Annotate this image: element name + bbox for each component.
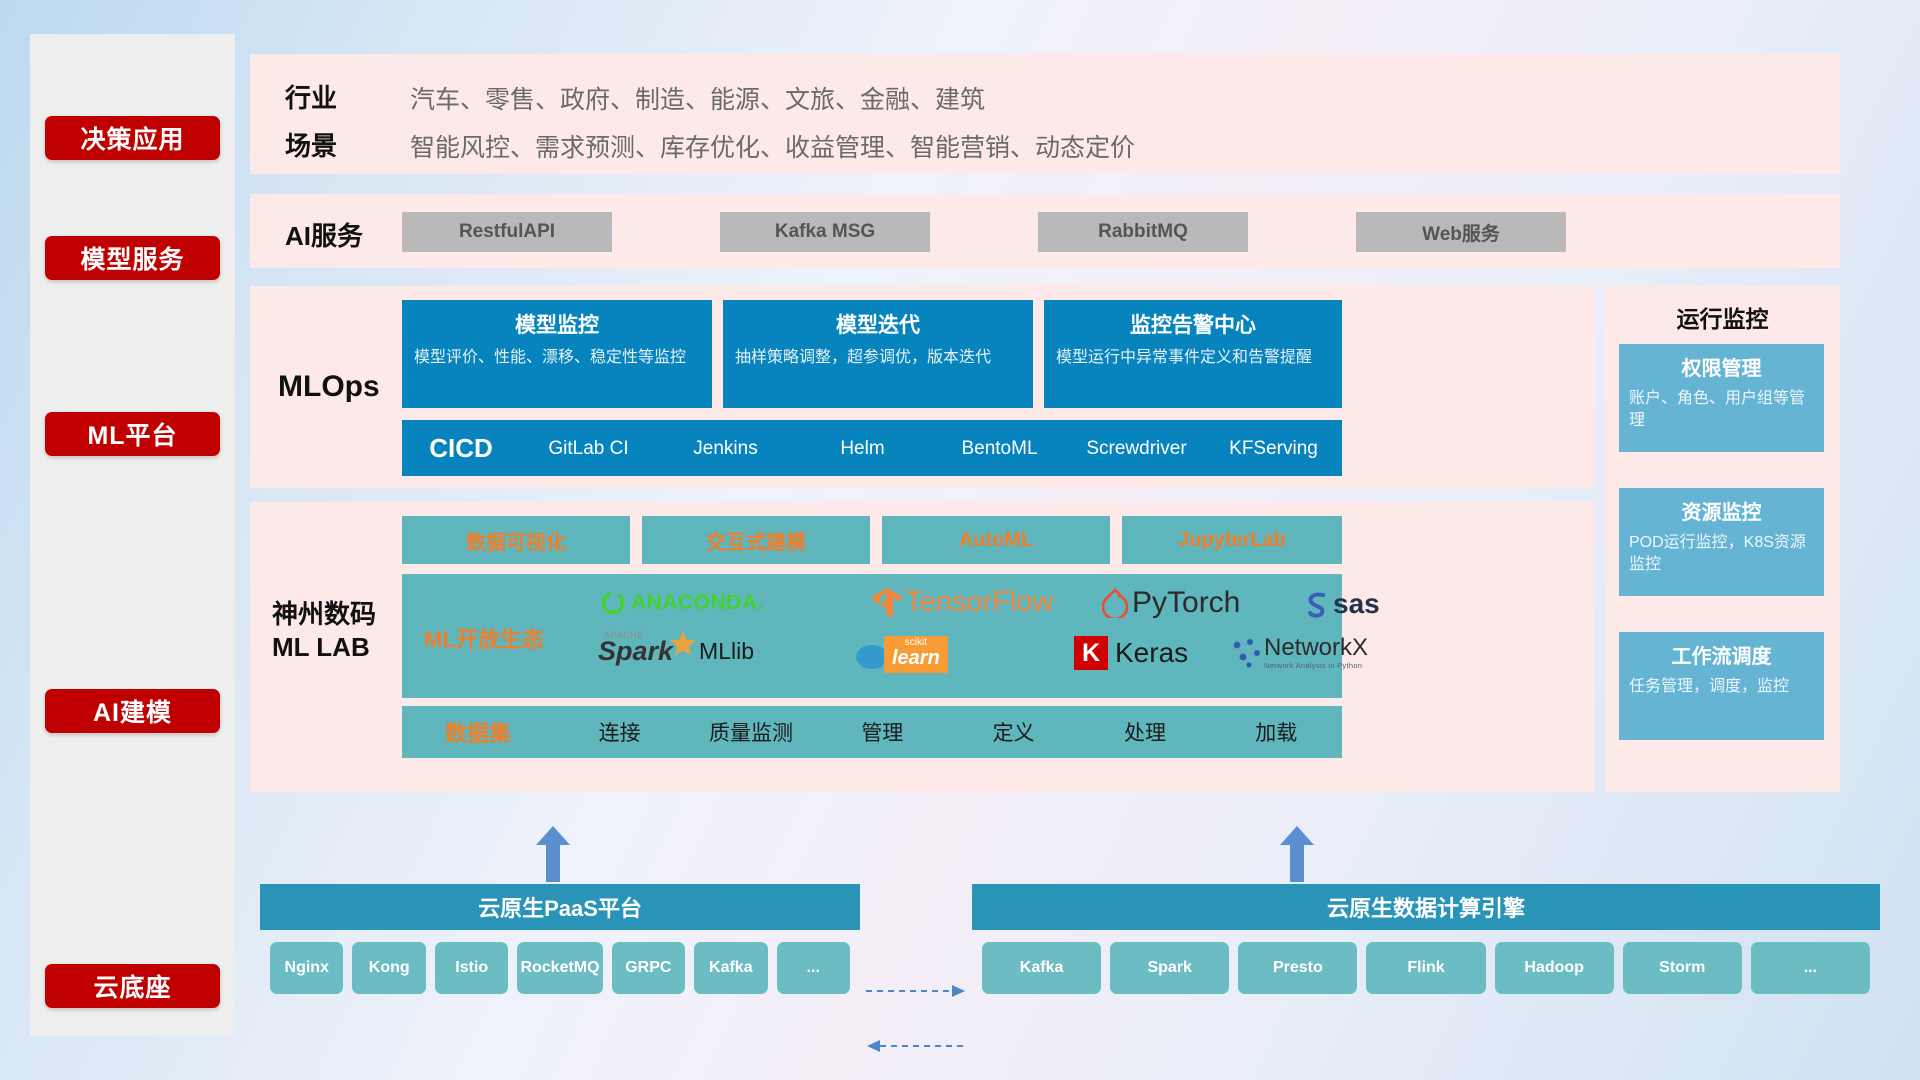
- cloud-group-data-engine: 云原生数据计算引擎 Kafka Spark Presto Flink Hadoo…: [972, 884, 1880, 1006]
- dataset-label: 数据集: [402, 716, 554, 748]
- monitor-card-title: 工作流调度: [1619, 632, 1824, 669]
- sas-logo: sas: [1302, 588, 1380, 620]
- ai-service-band: AI服务 RestfulAPI Kafka MSG RabbitMQ Web服务: [250, 194, 1840, 268]
- mlops-card-desc: 抽样策略调整，超参调优，版本迭代: [723, 339, 1033, 369]
- arrow-dashed-left: [866, 1039, 966, 1053]
- arrow-up-paas: [536, 826, 570, 882]
- scenario-label: 场景: [285, 126, 337, 163]
- cicd-bar[interactable]: CICD GitLab CI Jenkins Helm BentoML Scre…: [402, 420, 1342, 476]
- cicd-item-kfserving[interactable]: KFServing: [1205, 439, 1342, 458]
- rail-item-label: ML平台: [87, 416, 177, 452]
- cloud-chip-more[interactable]: ...: [777, 942, 850, 994]
- cloud-chip-hadoop[interactable]: Hadoop: [1495, 942, 1614, 994]
- applications-band: 行业 汽车、零售、政府、制造、能源、文旅、金融、建筑 场景 智能风控、需求预测、…: [250, 54, 1840, 174]
- monitor-card-title: 资源监控: [1619, 488, 1824, 525]
- rail-item-label: 模型服务: [80, 240, 184, 276]
- cloud-chip-istio[interactable]: Istio: [435, 942, 508, 994]
- dataset-bar[interactable]: 数据集 连接 质量监测 管理 定义 处理 加载: [402, 706, 1342, 758]
- mlops-label: MLOps: [278, 368, 380, 406]
- rail-item-label: AI建模: [93, 693, 172, 729]
- cloud-chip-kafka[interactable]: Kafka: [694, 942, 767, 994]
- rail-item-ml-platform[interactable]: ML平台: [45, 412, 220, 456]
- service-box-label: RabbitMQ: [1098, 221, 1188, 243]
- cicd-label: CICD: [402, 433, 520, 464]
- mlops-band: MLOps 模型监控 模型评价、性能、漂移、稳定性等监控 模型迭代 抽样策略调整…: [250, 286, 1595, 488]
- service-box-label: Kafka MSG: [775, 221, 875, 243]
- mlops-card-alert-center[interactable]: 监控告警中心 模型运行中异常事件定义和告警提醒: [1044, 300, 1342, 408]
- cloud-chip-spark[interactable]: Spark: [1110, 942, 1229, 994]
- cloud-chip-presto[interactable]: Presto: [1238, 942, 1357, 994]
- networkx-logo: NetworkX Network Analysis in Python: [1230, 636, 1368, 670]
- dataset-item-define[interactable]: 定义: [948, 717, 1079, 747]
- runtime-monitor-header: 运行监控: [1605, 286, 1840, 334]
- monitor-card-desc: POD运行监控，K8S资源监控: [1619, 525, 1824, 575]
- ml-lab-band: 神州数码 ML LAB 数据可视化 交互式建模 AutoML JupyterLa…: [250, 502, 1595, 792]
- lab-tab-data-visualization[interactable]: 数据可视化: [402, 516, 630, 564]
- spark-mllib-logo: APACHE Spark MLlib: [598, 636, 754, 667]
- runtime-monitor-panel: 运行监控 权限管理 账户、角色、用户组等管理 资源监控 POD运行监控，K8S资…: [1605, 286, 1840, 792]
- monitor-card-workflow[interactable]: 工作流调度 任务管理，调度，监控: [1619, 632, 1824, 740]
- industry-value: 汽车、零售、政府、制造、能源、文旅、金融、建筑: [410, 80, 985, 116]
- lab-tab-label: 交互式建模: [706, 526, 806, 555]
- ml-ecosystem-label: ML开放生态: [424, 622, 544, 654]
- scikit-logo-text: learn: [892, 648, 940, 669]
- rail-item-label: 云底座: [93, 968, 171, 1004]
- cicd-item-helm[interactable]: Helm: [794, 439, 931, 458]
- mlops-card-desc: 模型评价、性能、漂移、稳定性等监控: [402, 339, 712, 369]
- dataset-item-manage[interactable]: 管理: [817, 717, 948, 747]
- cloud-group-title: 云原生PaaS平台: [260, 884, 860, 930]
- cloud-chip-storm[interactable]: Storm: [1623, 942, 1742, 994]
- rail-item-model-service[interactable]: 模型服务: [45, 236, 220, 280]
- pytorch-logo: PyTorch: [1102, 586, 1240, 620]
- monitor-card-permission[interactable]: 权限管理 账户、角色、用户组等管理: [1619, 344, 1824, 452]
- monitor-card-title: 权限管理: [1619, 344, 1824, 381]
- lab-tab-label: 数据可视化: [466, 526, 566, 555]
- cloud-foundation: 云原生PaaS平台 Nginx Kong Istio RocketMQ GRPC…: [250, 826, 1890, 1036]
- arrow-up-data-engine: [1280, 826, 1314, 882]
- spark-logo-text: Spark: [598, 636, 673, 666]
- mlops-card-model-monitoring[interactable]: 模型监控 模型评价、性能、漂移、稳定性等监控: [402, 300, 712, 408]
- service-box-label: RestfulAPI: [459, 221, 555, 243]
- ml-ecosystem-box: ML开放生态 ANACONDA. TensorFlow PyTorch: [402, 574, 1342, 698]
- mlops-card-title: 模型迭代: [723, 300, 1033, 339]
- dataset-item-connect[interactable]: 连接: [554, 717, 685, 747]
- monitor-card-desc: 任务管理，调度，监控: [1619, 669, 1824, 698]
- pytorch-logo-text: PyTorch: [1132, 586, 1240, 620]
- cloud-chip-list: Nginx Kong Istio RocketMQ GRPC Kafka ...: [260, 930, 860, 1006]
- monitor-card-resource[interactable]: 资源监控 POD运行监控，K8S资源监控: [1619, 488, 1824, 596]
- service-box-rabbitmq[interactable]: RabbitMQ: [1038, 212, 1248, 252]
- cloud-chip-grpc[interactable]: GRPC: [612, 942, 685, 994]
- lab-tab-jupyterlab[interactable]: JupyterLab: [1122, 516, 1342, 564]
- left-rail: 决策应用 模型服务 ML平台 AI建模 云底座: [30, 34, 235, 1036]
- mllib-logo-text: MLlib: [699, 638, 754, 665]
- mlops-card-title: 模型监控: [402, 300, 712, 339]
- dataset-item-load[interactable]: 加载: [1211, 717, 1342, 747]
- cloud-chip-kafka[interactable]: Kafka: [982, 942, 1101, 994]
- cloud-group-title: 云原生数据计算引擎: [972, 884, 1880, 930]
- lab-tab-automl[interactable]: AutoML: [882, 516, 1110, 564]
- mlops-card-title: 监控告警中心: [1044, 300, 1342, 339]
- rail-item-decision-apps[interactable]: 决策应用: [45, 116, 220, 160]
- cloud-chip-flink[interactable]: Flink: [1366, 942, 1485, 994]
- cloud-group-paas: 云原生PaaS平台 Nginx Kong Istio RocketMQ GRPC…: [260, 884, 860, 1006]
- mlops-card-desc: 模型运行中异常事件定义和告警提醒: [1044, 339, 1342, 369]
- cloud-chip-nginx[interactable]: Nginx: [270, 942, 343, 994]
- networkx-logo-sub: Network Analysis in Python: [1264, 662, 1368, 670]
- anaconda-logo-text: ANACONDA.: [631, 591, 764, 615]
- sas-logo-text: sas: [1333, 588, 1380, 620]
- cicd-item-gitlab-ci[interactable]: GitLab CI: [520, 439, 657, 458]
- scenario-value: 智能风控、需求预测、库存优化、收益管理、智能营销、动态定价: [410, 128, 1135, 164]
- arrow-dashed-right: [866, 984, 966, 998]
- dataset-item-quality[interactable]: 质量监测: [685, 717, 816, 747]
- keras-logo-text: Keras: [1115, 637, 1188, 669]
- ml-lab-label: 神州数码 ML LAB: [272, 598, 376, 663]
- cloud-chip-rocketmq[interactable]: RocketMQ: [517, 942, 602, 994]
- cicd-item-screwdriver[interactable]: Screwdriver: [1068, 439, 1205, 458]
- networkx-logo-text: NetworkX: [1264, 636, 1368, 660]
- tensorflow-logo: TensorFlow: [872, 586, 1053, 619]
- lab-tab-label: AutoML: [959, 529, 1033, 552]
- lab-tab-interactive-modeling[interactable]: 交互式建模: [642, 516, 870, 564]
- scikit-learn-logo: scikit learn: [854, 636, 948, 673]
- ml-lab-label-line2: ML LAB: [272, 631, 376, 664]
- dataset-item-process[interactable]: 处理: [1079, 717, 1210, 747]
- service-box-kafka-msg[interactable]: Kafka MSG: [720, 212, 930, 252]
- monitor-card-desc: 账户、角色、用户组等管理: [1619, 381, 1824, 431]
- service-box-restfulapi[interactable]: RestfulAPI: [402, 212, 612, 252]
- cloud-chip-kong[interactable]: Kong: [352, 942, 425, 994]
- service-box-web-service[interactable]: Web服务: [1356, 212, 1566, 252]
- keras-logo: K Keras: [1074, 636, 1188, 670]
- anaconda-logo: ANACONDA.: [600, 590, 764, 616]
- tensorflow-logo-text: TensorFlow: [905, 586, 1053, 619]
- ai-service-label: AI服务: [285, 216, 363, 253]
- mlops-card-model-iteration[interactable]: 模型迭代 抽样策略调整，超参调优，版本迭代: [723, 300, 1033, 408]
- cicd-item-jenkins[interactable]: Jenkins: [657, 439, 794, 458]
- spark-logo-sub: APACHE: [604, 630, 644, 640]
- rail-item-ai-modeling[interactable]: AI建模: [45, 689, 220, 733]
- cicd-item-bentoml[interactable]: BentoML: [931, 439, 1068, 458]
- lab-tab-label: JupyterLab: [1178, 529, 1286, 552]
- rail-item-cloud-base[interactable]: 云底座: [45, 964, 220, 1008]
- rail-item-label: 决策应用: [80, 120, 184, 156]
- cloud-chip-list: Kafka Spark Presto Flink Hadoop Storm ..…: [972, 930, 1880, 1006]
- service-box-label: Web服务: [1422, 219, 1500, 246]
- industry-label: 行业: [285, 78, 337, 115]
- ml-lab-label-line1: 神州数码: [272, 598, 376, 631]
- cloud-chip-more[interactable]: ...: [1751, 942, 1870, 994]
